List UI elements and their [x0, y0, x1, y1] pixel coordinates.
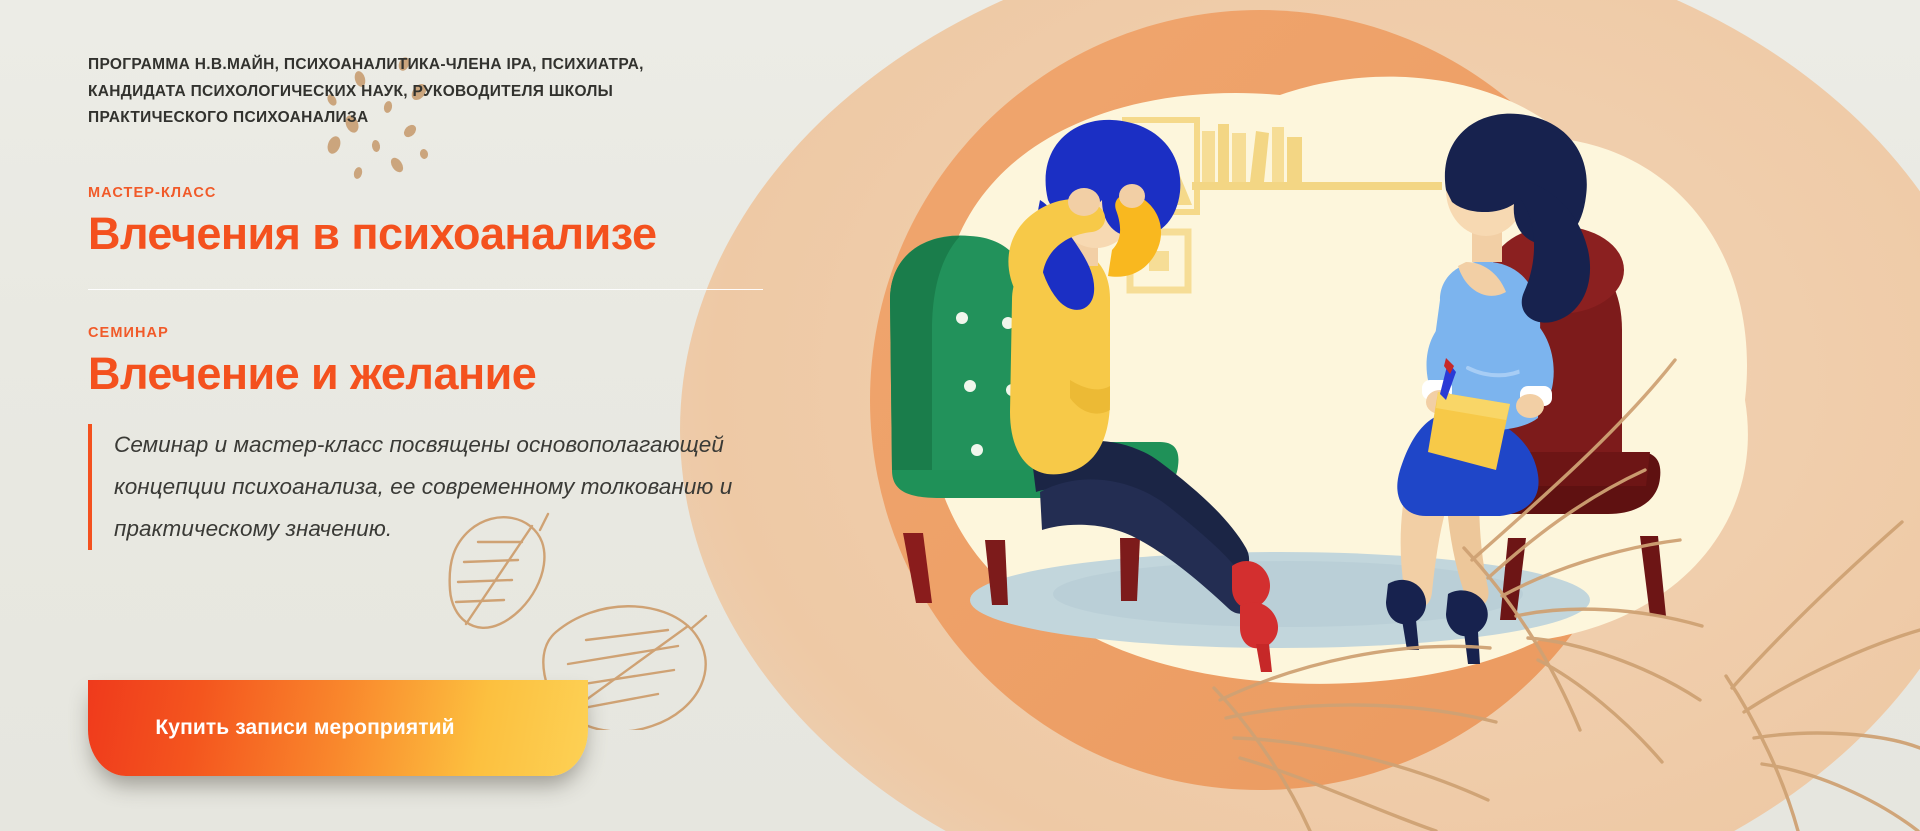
masterclass-title: Влечения в психоанализе [88, 210, 656, 259]
masterclass-block: МАСТЕР-КЛАСС Влечения в психоанализе [88, 185, 656, 259]
section-divider [88, 289, 763, 290]
program-credentials: ПРОГРАММА Н.В.МАЙН, ПСИХОАНАЛИТИКА-ЧЛЕНА… [88, 52, 748, 132]
seminar-block: СЕМИНАР Влечение и желание [88, 325, 536, 399]
therapy-session-illustration [640, 0, 1920, 831]
description-quote: Семинар и мастер-класс посвящены основоп… [88, 424, 778, 550]
program-line-3: ПРАКТИЧЕСКОГО ПСИХОАНАЛИЗА [88, 105, 748, 132]
program-line-1: ПРОГРАММА Н.В.МАЙН, ПСИХОАНАЛИТИКА-ЧЛЕНА… [88, 52, 748, 79]
masterclass-eyebrow: МАСТЕР-КЛАСС [88, 185, 656, 201]
hero-section: ПРОГРАММА Н.В.МАЙН, ПСИХОАНАЛИТИКА-ЧЛЕНА… [0, 0, 1920, 831]
description-text: Семинар и мастер-класс посвящены основоп… [114, 424, 778, 550]
program-line-2: КАНДИДАТА ПСИХОЛОГИЧЕСКИХ НАУК, РУКОВОДИ… [88, 79, 748, 106]
seminar-title: Влечение и желание [88, 350, 536, 399]
buy-recordings-button[interactable]: Купить записи мероприятий [88, 680, 588, 776]
seminar-eyebrow: СЕМИНАР [88, 325, 536, 341]
illustration-panel [640, 0, 1920, 831]
